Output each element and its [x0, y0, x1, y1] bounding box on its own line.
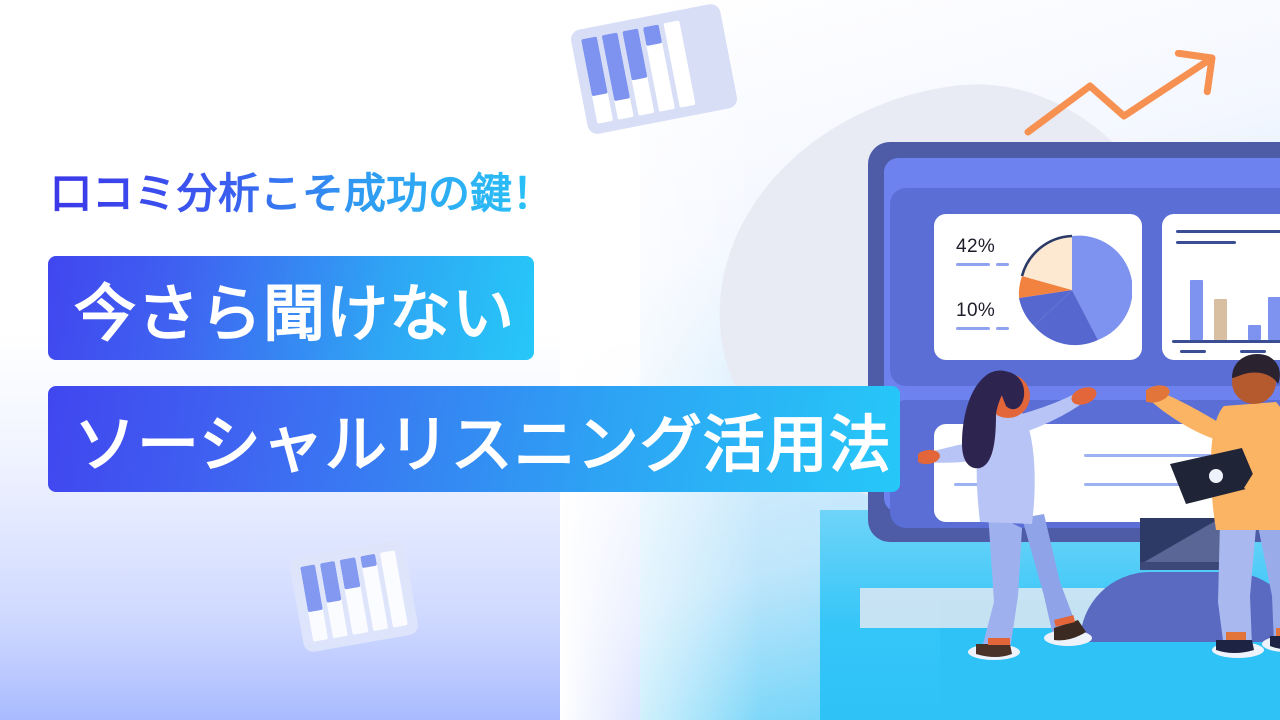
kicker-text: 口コミ分析こそ成功の鍵！ — [50, 170, 554, 217]
headline-band-two-text: ソーシャルリスニング活用法 — [74, 394, 892, 484]
headline-band-one: 今さら聞けない — [48, 256, 534, 360]
poster-canvas: 42% 10% — [0, 0, 1280, 720]
bar-chart-title-rules — [1176, 230, 1280, 244]
bar-chart-axis — [1172, 340, 1280, 343]
pie-label-10: 10% — [956, 300, 1009, 322]
bar-chart-card — [1162, 214, 1280, 360]
man-illustration — [1146, 344, 1280, 662]
bar-3 — [1248, 325, 1261, 340]
pie-label-rule-2 — [956, 327, 1009, 330]
pie-label-rule-1 — [956, 263, 1009, 266]
headline-band-two: ソーシャルリスニング活用法 — [48, 386, 900, 492]
woman-illustration — [918, 352, 1118, 662]
pie-chart-card: 42% 10% — [934, 214, 1142, 360]
bar-4 — [1268, 297, 1280, 340]
bar-2 — [1214, 299, 1227, 340]
pie-label-42: 42% — [956, 236, 1009, 258]
headline-band-one-text: 今さら聞けない — [74, 263, 515, 353]
pie-legend: 42% 10% — [956, 236, 1009, 330]
trend-arrow-icon — [1020, 50, 1240, 140]
bar-chart-plot — [1176, 264, 1280, 340]
floating-chart-card-bottom — [289, 539, 420, 654]
pie-chart-graphic — [1012, 230, 1132, 350]
bar-1 — [1190, 280, 1203, 340]
